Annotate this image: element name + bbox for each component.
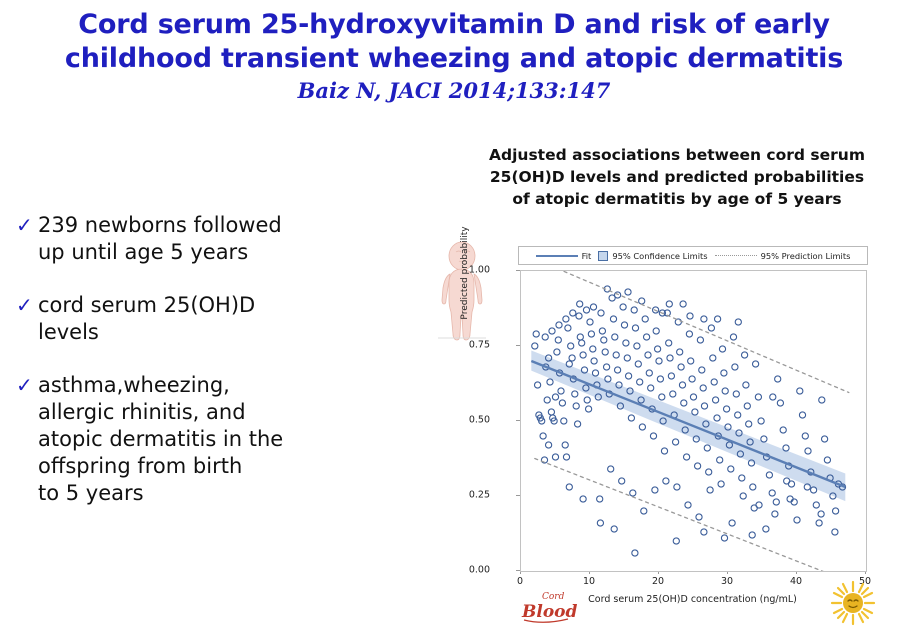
data-point: [692, 409, 698, 415]
data-point: [632, 550, 638, 556]
data-point: [569, 355, 575, 361]
data-point: [587, 319, 593, 325]
data-point: [679, 382, 685, 388]
data-point: [552, 454, 558, 460]
data-point: [563, 316, 569, 322]
y-tick-label: 0.00: [450, 565, 490, 576]
data-point: [656, 358, 662, 364]
check-icon: ✓: [16, 212, 38, 238]
data-point: [554, 349, 560, 355]
data-point: [756, 502, 762, 508]
data-point: [583, 307, 589, 313]
legend-label-confidence: 95% Confidence Limits: [612, 251, 707, 261]
fit-line: [531, 361, 845, 487]
data-point: [575, 421, 581, 427]
data-point: [659, 394, 665, 400]
data-point: [625, 289, 631, 295]
data-point: [688, 358, 694, 364]
data-point: [735, 412, 741, 418]
legend-item-prediction: 95% Prediction Limits: [715, 251, 851, 261]
chart-legend: Fit 95% Confidence Limits 95% Prediction…: [518, 246, 868, 265]
list-item-label: asthma,wheezing, allergic rhinitis, and …: [38, 372, 283, 507]
data-point: [816, 520, 822, 526]
data-point: [695, 463, 701, 469]
data-point: [714, 415, 720, 421]
data-point: [561, 418, 567, 424]
data-point: [621, 322, 627, 328]
data-point: [772, 511, 778, 517]
data-point: [753, 361, 759, 367]
data-point: [697, 337, 703, 343]
data-point: [704, 445, 710, 451]
data-point: [773, 499, 779, 505]
data-point: [599, 328, 605, 334]
data-point: [586, 406, 592, 412]
data-point: [552, 394, 558, 400]
data-point: [615, 367, 621, 373]
data-point: [556, 322, 562, 328]
data-point: [742, 352, 748, 358]
data-point: [822, 436, 828, 442]
data-point: [673, 439, 679, 445]
data-point: [805, 448, 811, 454]
data-point: [735, 319, 741, 325]
page-title: Cord serum 25-hydroxyvitamin D and risk …: [0, 8, 908, 106]
data-point: [548, 409, 554, 415]
confidence-swatch-icon: [598, 251, 608, 261]
data-point: [813, 502, 819, 508]
data-point: [555, 337, 561, 343]
data-point: [680, 301, 686, 307]
data-point: [739, 475, 745, 481]
data-point: [650, 433, 656, 439]
data-point: [730, 334, 736, 340]
data-point: [540, 433, 546, 439]
data-point: [642, 316, 648, 322]
data-point: [766, 472, 772, 478]
legend-item-fit: Fit: [536, 251, 592, 261]
data-point: [590, 304, 596, 310]
fit-line-icon: [536, 255, 578, 257]
data-point: [733, 391, 739, 397]
title-line-2: childhood transient wheezing and atopic …: [0, 42, 908, 76]
data-point: [613, 352, 619, 358]
data-point: [663, 478, 669, 484]
data-point: [711, 379, 717, 385]
data-point: [597, 520, 603, 526]
data-point: [674, 484, 680, 490]
list-item-label: 239 newborns followed up until age 5 yea…: [38, 212, 282, 266]
data-point: [546, 442, 552, 448]
data-point: [689, 376, 695, 382]
data-point: [549, 328, 555, 334]
data-point: [743, 382, 749, 388]
data-point: [690, 394, 696, 400]
data-point: [740, 493, 746, 499]
title-citation: Baiz N, JACI 2014;133:147: [0, 76, 908, 106]
list-item: ✓ cord serum 25(OH)D levels: [16, 292, 376, 346]
data-point: [547, 379, 553, 385]
data-point: [797, 388, 803, 394]
list-item: ✓ 239 newborns followed up until age 5 y…: [16, 212, 376, 266]
data-point: [701, 529, 707, 535]
data-point: [641, 508, 647, 514]
data-point: [644, 334, 650, 340]
data-point: [655, 346, 661, 352]
data-point: [681, 400, 687, 406]
legend-item-confidence: 95% Confidence Limits: [598, 251, 707, 261]
legend-label-fit: Fit: [582, 251, 592, 261]
data-point: [577, 301, 583, 307]
data-point: [718, 481, 724, 487]
data-point: [635, 361, 641, 367]
data-point: [700, 385, 706, 391]
list-item-label: cord serum 25(OH)D levels: [38, 292, 255, 346]
data-point: [701, 316, 707, 322]
data-point: [562, 442, 568, 448]
data-point: [533, 331, 539, 337]
data-point: [777, 400, 783, 406]
data-point: [707, 487, 713, 493]
data-point: [749, 532, 755, 538]
data-point: [568, 343, 574, 349]
data-point: [670, 391, 676, 397]
data-point: [678, 364, 684, 370]
data-point: [750, 484, 756, 490]
data-point: [620, 304, 626, 310]
data-point: [657, 376, 663, 382]
data-point: [687, 313, 693, 319]
data-point: [535, 382, 541, 388]
data-point: [666, 301, 672, 307]
slide-root: Cord serum 25-hydroxyvitamin D and risk …: [0, 0, 908, 634]
plot-canvas: [521, 271, 866, 571]
data-point: [631, 307, 637, 313]
x-tick-label: 30: [721, 576, 733, 587]
data-point: [580, 352, 586, 358]
cord-blood-logo-blood: Blood: [521, 602, 578, 622]
data-point: [630, 490, 636, 496]
data-point: [818, 511, 824, 517]
data-point: [728, 466, 734, 472]
data-point: [717, 457, 723, 463]
data-point: [544, 397, 550, 403]
y-tick-label: 1.00: [450, 265, 490, 276]
data-point: [819, 397, 825, 403]
data-point: [604, 364, 610, 370]
data-point: [532, 343, 538, 349]
data-point: [542, 334, 548, 340]
data-point: [626, 373, 632, 379]
data-point: [566, 484, 572, 490]
data-point: [668, 373, 674, 379]
data-point: [577, 334, 583, 340]
data-point: [673, 538, 679, 544]
data-point: [572, 391, 578, 397]
data-point: [675, 319, 681, 325]
data-point: [763, 526, 769, 532]
data-point: [710, 355, 716, 361]
data-point: [558, 388, 564, 394]
confidence-band: [531, 351, 845, 502]
data-point: [598, 310, 604, 316]
data-point: [715, 316, 721, 322]
data-point: [761, 436, 767, 442]
data-point: [729, 520, 735, 526]
data-point: [744, 403, 750, 409]
data-point: [623, 340, 629, 346]
data-point: [677, 349, 683, 355]
y-tick-label: 0.75: [450, 340, 490, 351]
data-point: [721, 370, 727, 376]
data-point: [696, 514, 702, 520]
data-point: [724, 406, 730, 412]
data-point: [579, 340, 585, 346]
data-point: [755, 394, 761, 400]
x-tick-label: 20: [652, 576, 664, 587]
data-point: [719, 346, 725, 352]
data-point: [570, 310, 576, 316]
data-point: [576, 313, 582, 319]
data-point: [652, 487, 658, 493]
data-point: [611, 526, 617, 532]
data-point: [584, 397, 590, 403]
sun-icon: [830, 580, 876, 626]
scatter-chart: Fit 95% Confidence Limits 95% Prediction…: [462, 244, 902, 624]
data-point: [646, 370, 652, 376]
data-point: [686, 331, 692, 337]
data-point: [639, 298, 645, 304]
data-point: [832, 529, 838, 535]
data-point: [732, 364, 738, 370]
data-point: [758, 418, 764, 424]
data-point: [590, 346, 596, 352]
data-point: [597, 496, 603, 502]
list-item: ✓ asthma,wheezing, allergic rhinitis, an…: [16, 372, 376, 507]
data-point: [602, 349, 608, 355]
data-point: [573, 403, 579, 409]
data-point: [799, 412, 805, 418]
data-point: [610, 316, 616, 322]
data-point: [591, 358, 597, 364]
data-point: [634, 343, 640, 349]
data-point: [684, 454, 690, 460]
data-point: [784, 478, 790, 484]
data-point: [608, 466, 614, 472]
prediction-line-icon: [715, 255, 757, 256]
x-tick-label: 40: [790, 576, 802, 587]
data-point: [565, 325, 571, 331]
data-point: [770, 394, 776, 400]
data-point: [667, 355, 673, 361]
figure-caption: Adjusted associations between cord serum…: [452, 144, 902, 210]
data-point: [699, 367, 705, 373]
data-point: [701, 403, 707, 409]
data-point: [588, 331, 594, 337]
data-point: [833, 508, 839, 514]
data-point: [746, 421, 752, 427]
data-point: [559, 400, 565, 406]
data-point: [824, 457, 830, 463]
data-point: [637, 379, 643, 385]
data-point: [639, 424, 645, 430]
data-point: [685, 502, 691, 508]
data-point: [648, 385, 654, 391]
data-point: [563, 454, 569, 460]
data-point: [708, 325, 714, 331]
data-point: [632, 325, 638, 331]
data-point: [775, 376, 781, 382]
bullet-list: ✓ 239 newborns followed up until age 5 y…: [16, 212, 376, 533]
data-point: [769, 490, 775, 496]
data-point: [580, 496, 586, 502]
plot-area: [520, 270, 867, 572]
y-tick-label: 0.25: [450, 490, 490, 501]
check-icon: ✓: [16, 372, 38, 398]
data-point: [783, 445, 789, 451]
legend-label-prediction: 95% Prediction Limits: [761, 251, 851, 261]
data-point: [624, 355, 630, 361]
data-point: [645, 352, 651, 358]
cord-blood-logo-cord: Cord: [542, 592, 565, 602]
cord-blood-logo: Cord Blood: [520, 586, 606, 626]
data-point: [794, 517, 800, 523]
y-tick-label: 0.50: [450, 415, 490, 426]
data-point: [706, 469, 712, 475]
data-point: [780, 427, 786, 433]
data-point: [592, 370, 598, 376]
data-point: [661, 448, 667, 454]
data-point: [666, 340, 672, 346]
data-point: [722, 388, 728, 394]
data-point: [802, 433, 808, 439]
data-point: [713, 397, 719, 403]
data-point: [721, 535, 727, 541]
title-line-1: Cord serum 25-hydroxyvitamin D and risk …: [0, 8, 908, 42]
check-icon: ✓: [16, 292, 38, 318]
data-point: [628, 415, 634, 421]
data-point: [601, 337, 607, 343]
data-point: [653, 328, 659, 334]
data-point: [619, 478, 625, 484]
data-point: [612, 334, 618, 340]
